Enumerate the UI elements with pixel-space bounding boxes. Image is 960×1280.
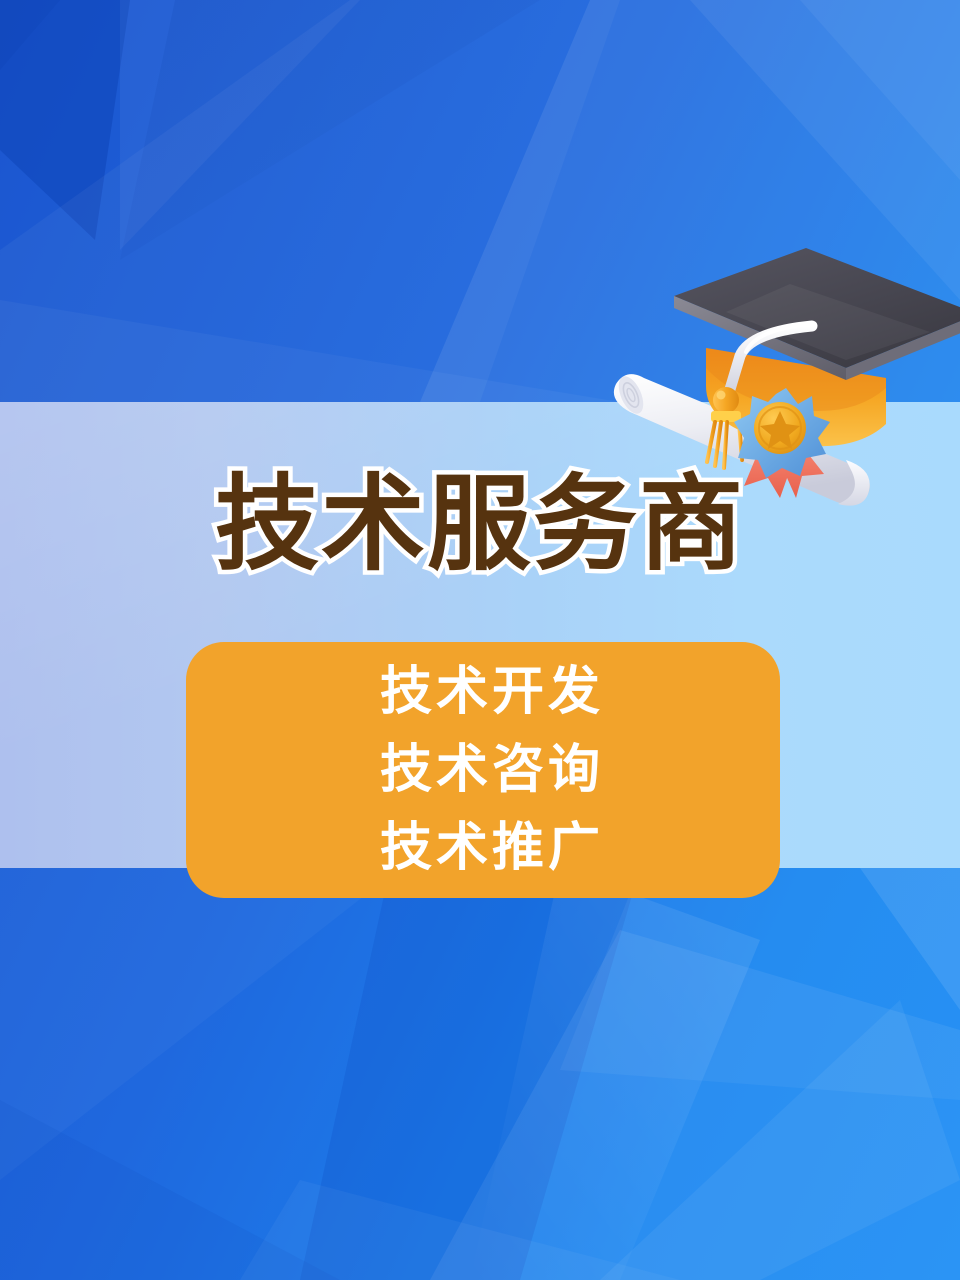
service-item-0: 技术开发: [186, 656, 780, 728]
page-title: 技术服务商: [0, 466, 960, 584]
service-item-2: 技术推广: [186, 812, 780, 884]
poster-canvas: 技术服务商 技术开发 技术咨询 技术推广: [0, 0, 960, 1280]
service-list-card: 技术开发 技术咨询 技术推广: [186, 642, 780, 898]
service-item-1: 技术咨询: [186, 734, 780, 806]
